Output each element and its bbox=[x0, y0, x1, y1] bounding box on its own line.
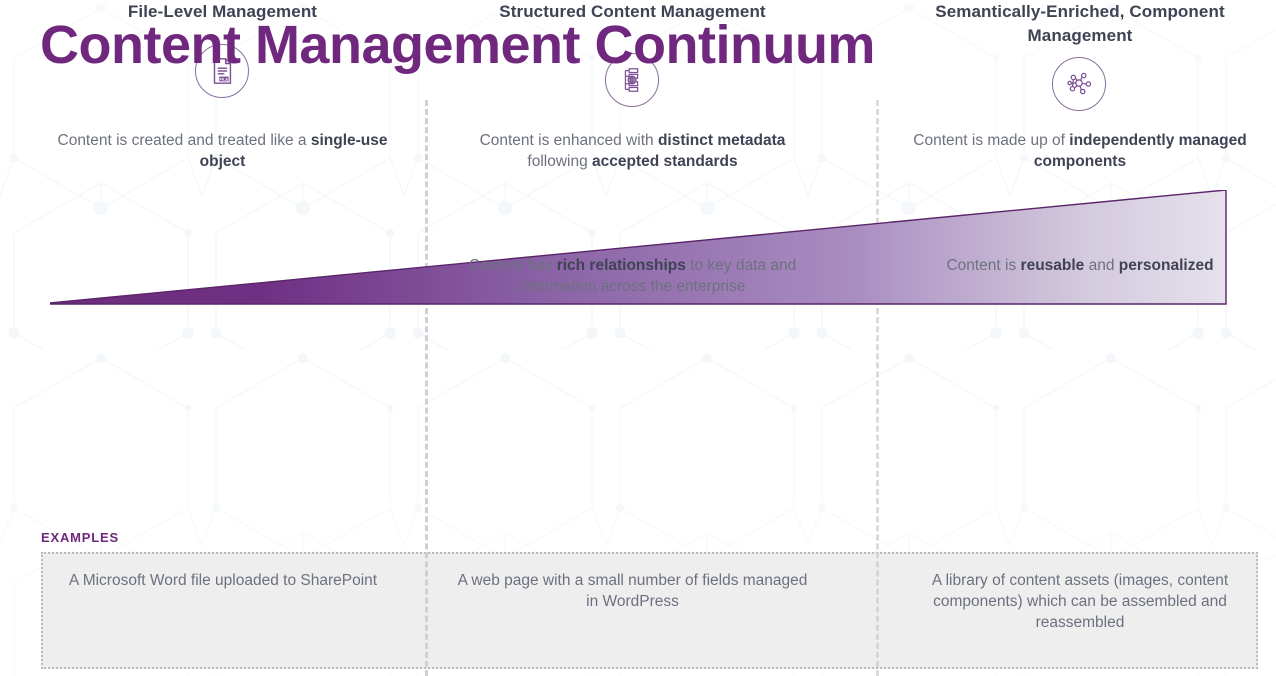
example-text-2: A web page with a small number of fields… bbox=[455, 570, 810, 612]
desc-rich-2-1: Content is enhanced with distinct metada… bbox=[480, 132, 786, 170]
example-text-3: A library of content assets (images, con… bbox=[905, 570, 1255, 633]
column-3-description-2: Content is reusable and personalized bbox=[900, 255, 1260, 276]
node-graph-icon bbox=[1052, 57, 1106, 111]
example-text-1: A Microsoft Word file uploaded to ShareP… bbox=[48, 570, 398, 591]
desc-rich-1-1: Content is created and treated like a si… bbox=[58, 132, 388, 170]
column-2-description-2: Content has rich relationships to key da… bbox=[445, 255, 820, 297]
page-title: Content Management Continuum bbox=[40, 12, 875, 78]
continuum-infographic: Content Management Continuum File-Level … bbox=[0, 0, 1276, 676]
desc-rich-3-1: Content is made up of independently mana… bbox=[913, 132, 1246, 170]
column-divider-2 bbox=[876, 100, 879, 676]
column-2-description-1: Content is enhanced with distinct metada… bbox=[450, 130, 815, 172]
column-1-description-1: Content is created and treated like a si… bbox=[45, 130, 400, 172]
desc-rich-3-2: Content is reusable and personalized bbox=[946, 257, 1213, 274]
examples-label: EXAMPLES bbox=[41, 530, 119, 545]
column-heading-3: Semantically-Enriched, Component Managem… bbox=[900, 0, 1260, 48]
column-3-description-1: Content is made up of independently mana… bbox=[900, 130, 1260, 172]
column-divider-1 bbox=[425, 100, 428, 676]
desc-rich-2-2: Content has rich relationships to key da… bbox=[469, 257, 796, 295]
